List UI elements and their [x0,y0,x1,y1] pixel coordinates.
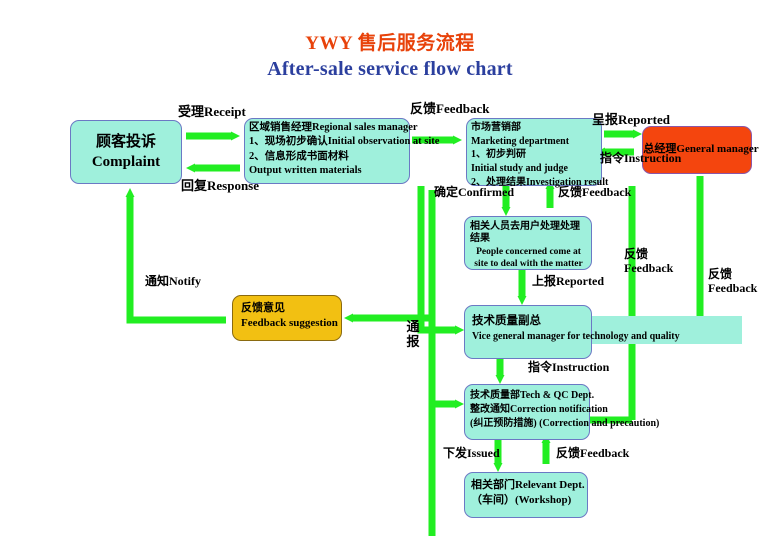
node-relevant-line2: （车间）(Workshop) [471,494,587,507]
label-instruction-top: 指令Instruction [600,152,681,166]
node-feedback-suggestion[interactable]: 反馈意见 Feedback suggestion [232,295,342,341]
node-vgm-cn: 技术质量副总 [472,314,591,328]
label-instruction-vgm: 指令Instruction [528,361,609,375]
node-complaint-cn: 顾客投诉 [96,133,156,151]
node-feedback-suggestion-cn: 反馈意见 [241,302,341,315]
label-issued: 下发Issued [443,447,500,461]
node-rsm-line4: Output written materials [249,165,409,178]
node-marketing-line2: Marketing department [471,136,601,148]
label-tongbao: 通报 [405,320,421,350]
label-feedback-right-inner-cn: 反馈 [624,248,673,262]
node-people-cn: 相关人员去用户处理处理结果 [470,221,587,245]
label-feedback-right-outer: 反馈 Feedback [708,268,757,296]
node-marketing-line1: 市场营销部 [471,122,601,134]
node-tech-qc-dept[interactable]: 技术质量部Tech & QC Dept. 整改通知Correction noti… [464,384,590,440]
line-feedback-suggestion-to-complaint [130,196,226,320]
node-regional-sales-manager[interactable]: 区域销售经理Regional sales manager 1、现场初步确认Ini… [244,118,410,184]
label-notify: 通知Notify [145,275,201,289]
label-reported-up: 上报Reported [532,275,604,289]
node-marketing-department[interactable]: 市场营销部 Marketing department 1、初步判研 Initia… [466,118,602,186]
node-people-concerned[interactable]: 相关人员去用户处理处理结果 People concerned come at s… [464,216,592,270]
node-complaint-en: Complaint [92,153,160,171]
node-complaint[interactable]: 顾客投诉 Complaint [70,120,182,184]
label-response: 回复Response [181,179,259,194]
label-confirmed: 确定Confirmed [434,186,514,200]
node-rsm-line1: 区域销售经理Regional sales manager [249,122,409,135]
line-tongbao-rsm-to-vgm [421,186,456,330]
node-feedback-suggestion-en: Feedback suggestion [241,317,341,330]
node-people-en: People concerned come at site to deal wi… [470,247,587,270]
node-relevant-line1: 相关部门Relevant Dept. [471,479,587,492]
node-rsm-line3: 2、信息形成书面材料 [249,151,409,164]
label-reported-top: 呈报Reported [592,113,670,128]
label-feedback-mid: 反馈Feedback [558,186,631,200]
node-marketing-line3: 1、初步判研 [471,149,601,161]
label-receipt: 受理Receipt [178,105,246,120]
node-qc-line2: 整改通知Correction notification [470,404,589,416]
label-feedback-right-outer-en: Feedback [708,282,757,296]
node-vgm-en: Vice general manager for technology and … [472,331,591,343]
node-general-manager[interactable]: 总经理General manager [642,126,752,174]
node-qc-line1: 技术质量部Tech & QC Dept. [470,390,589,402]
node-rsm-line2: 1、现场初步确认Initial observation at site [249,136,409,149]
label-feedback-right-inner: 反馈 Feedback [624,248,673,276]
label-feedback-top: 反馈Feedback [410,102,489,117]
node-marketing-line4: Initial study and judge [471,163,601,175]
node-vice-general-manager[interactable]: 技术质量副总 Vice general manager for technolo… [464,305,592,359]
node-relevant-dept[interactable]: 相关部门Relevant Dept. （车间）(Workshop) [464,472,588,518]
label-feedback-right-inner-en: Feedback [624,262,673,276]
label-feedback-bottom: 反馈Feedback [556,447,629,461]
label-feedback-right-outer-cn: 反馈 [708,268,757,282]
node-qc-line3: (纠正预防措施) (Correction and precaution) [470,418,589,430]
flowchart-canvas: YWY 售后服务流程 After-sale service flow chart [0,0,780,540]
